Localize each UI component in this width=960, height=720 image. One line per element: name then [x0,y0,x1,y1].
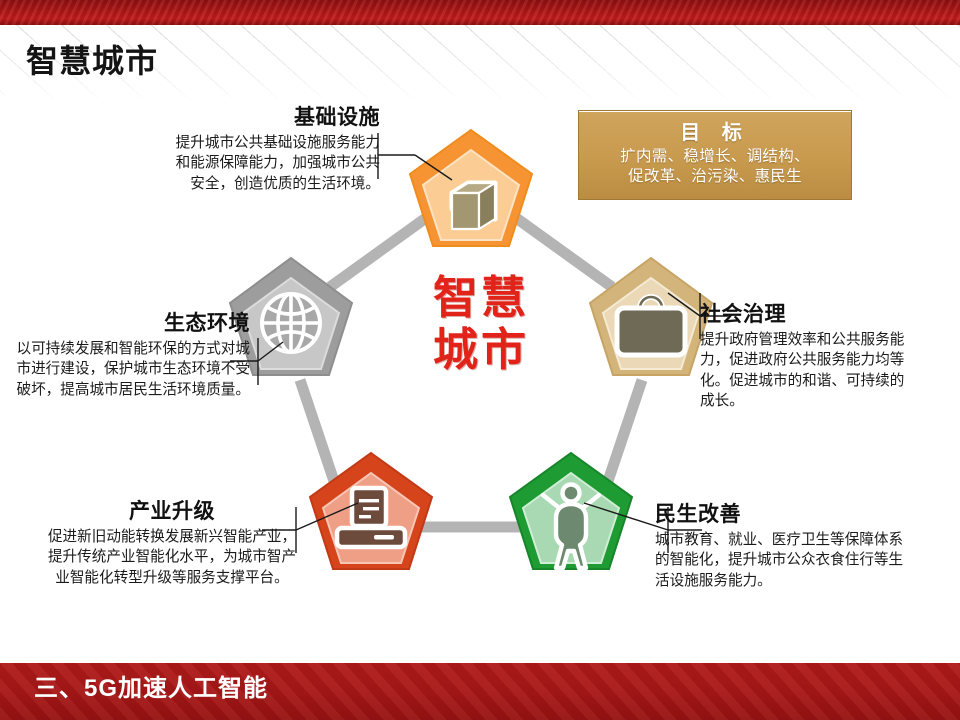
connector-gov-livelihood [604,380,642,493]
briefcase-icon [617,297,685,355]
text-block-infrastructure: 基础设施 提升城市公共基础设施服务能力和能源保障能力，加强城市公共安全，创造优质… [170,106,380,194]
footer-band-top-edge [0,660,960,663]
slide-root: 智慧城市 目 标 扩内需、稳增长、调结构、 促改革、治污染、惠民生 [0,0,960,720]
text-block-ecology: 生态环境 以可持续发展和智能环保的方式对城市进行建设，保护城市生态环境不受破坏，… [10,312,250,400]
node-body-governance: 提升政府管理效率和公共服务能力，促进政府公共服务能力均等化。促进城市的和谐、可持… [700,330,914,412]
node-infrastructure[interactable] [410,130,532,246]
node-title-industry: 产业升级 [46,500,298,525]
node-governance[interactable] [590,258,712,375]
connector-infra-gov [512,215,612,287]
globe-icon [262,294,320,352]
node-body-industry: 促进新旧动能转换发展新兴智能产业，提升传统产业智能化水平，为城市智产业智能化转型… [46,527,298,588]
goal-box: 目 标 扩内需、稳增长、调结构、 促改革、治污染、惠民生 [578,110,852,200]
text-block-governance: 社会治理 提升政府管理效率和公共服务能力，促进政府公共服务能力均等化。促进城市的… [700,303,914,411]
goal-lines: 扩内需、稳增长、调结构、 促改革、治污染、惠民生 [579,147,851,188]
cube-icon [452,183,495,229]
connector-infra-eco [330,215,430,287]
goal-line-2: 促改革、治污染、惠民生 [579,167,851,187]
goal-line-1: 扩内需、稳增长、调结构、 [579,147,851,167]
connector-eco-industry [300,380,338,493]
text-block-livelihood: 民生改善 城市教育、就业、医疗卫生等保障体系的智能化，提升城市公众衣食住行等生活… [655,503,909,591]
top-red-band [0,0,960,25]
text-block-industry: 产业升级 促进新旧动能转换发展新兴智能产业，提升传统产业智能化水平，为城市智产业… [46,500,298,588]
top-band-texture [0,0,960,25]
node-title-governance: 社会治理 [700,303,914,328]
node-title-ecology: 生态环境 [10,312,250,337]
node-title-livelihood: 民生改善 [655,503,909,528]
node-body-ecology: 以可持续发展和智能环保的方式对城市进行建设，保护城市生态环境不受破坏，提高城市居… [10,339,250,400]
node-title-infrastructure: 基础设施 [170,106,380,131]
node-body-infrastructure: 提升城市公共基础设施服务能力和能源保障能力，加强城市公共安全，创造优质的生活环境… [170,133,380,194]
goal-title: 目 标 [579,116,851,145]
footer-section-title: 三、5G加速人工智能 [34,668,268,703]
page-title: 智慧城市 [26,36,158,82]
node-body-livelihood: 城市教育、就业、医疗卫生等保障体系的智能化，提升城市公众衣食住行等生活设施服务能… [655,530,909,591]
